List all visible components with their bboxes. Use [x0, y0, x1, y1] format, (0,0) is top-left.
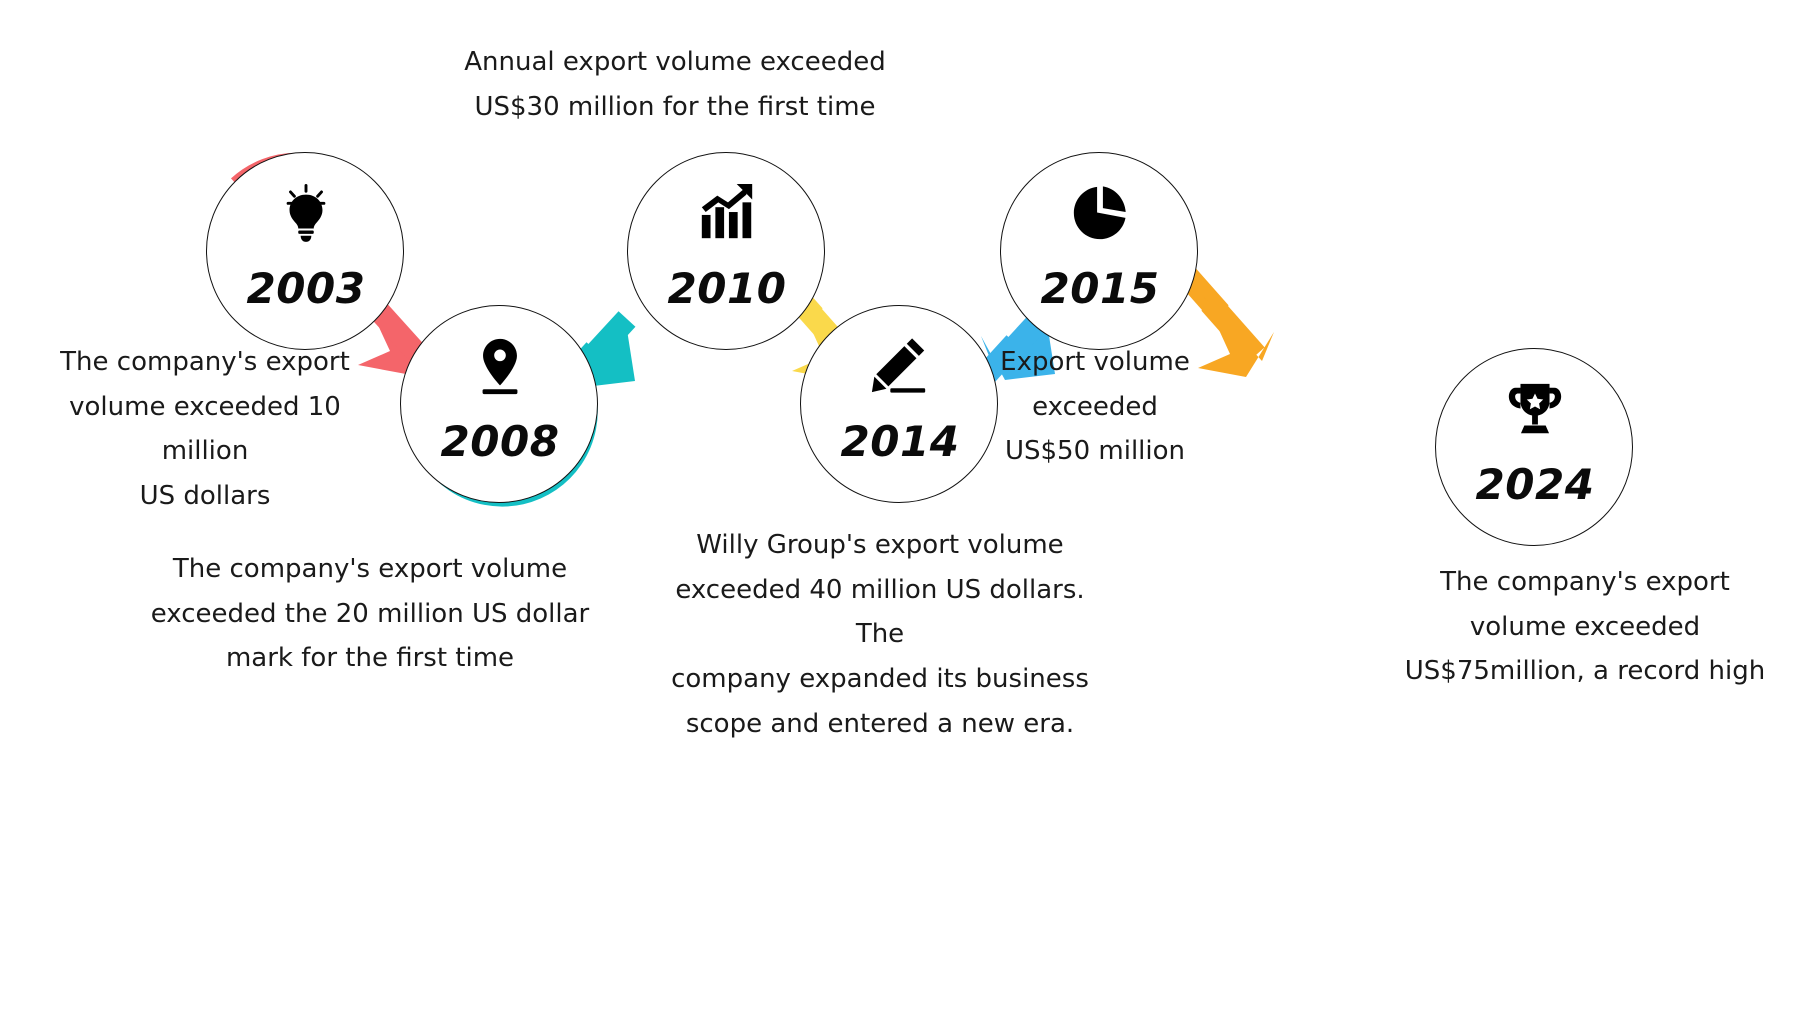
year-label-2003: 2003	[206, 264, 406, 313]
caption-2014-line-1: Willy Group's export volume	[650, 523, 1110, 568]
caption-2003: The company's export volume exceeded 10 …	[30, 340, 380, 519]
caption-2014-line-3: company expanded its business	[650, 657, 1110, 702]
caption-2014-line-2: exceeded 40 million US dollars. The	[650, 568, 1110, 657]
trophy-icon	[1435, 378, 1635, 440]
year-label-2015: 2015	[1000, 264, 1200, 313]
timeline-infographic: 2003 The company's export volume exceede…	[0, 0, 1820, 1024]
pie-chart-icon	[1000, 182, 1200, 244]
pencil-icon	[800, 335, 1000, 397]
year-label-2024: 2024	[1435, 460, 1635, 509]
caption-2003-line-2: volume exceeded 10 million	[30, 385, 380, 474]
map-pin-icon	[400, 335, 600, 397]
caption-2024-line-1: The company's export	[1390, 560, 1780, 605]
caption-2015-line-3: US$50 million	[985, 429, 1205, 474]
caption-2003-line-3: US dollars	[30, 474, 380, 519]
year-label-2014: 2014	[800, 417, 1000, 466]
bar-chart-growth-icon	[627, 182, 827, 244]
caption-2014: Willy Group's export volume exceeded 40 …	[650, 523, 1110, 747]
caption-2014-line-4: scope and entered a new era.	[650, 702, 1110, 747]
caption-2008-line-2: exceeded the 20 million US dollar	[140, 592, 600, 637]
lightbulb-icon	[206, 182, 406, 244]
caption-2015-line-1: Export volume	[985, 340, 1205, 385]
caption-2003-line-1: The company's export	[30, 340, 380, 385]
caption-2015: Export volume exceeded US$50 million	[985, 340, 1205, 474]
caption-2015-line-2: exceeded	[985, 385, 1205, 430]
caption-2008: The company's export volume exceeded the…	[140, 547, 600, 681]
caption-2008-line-1: The company's export volume	[140, 547, 600, 592]
caption-2010-line-1: Annual export volume exceeded	[440, 40, 910, 85]
caption-2010: Annual export volume exceeded US$30 mill…	[440, 40, 910, 129]
caption-2010-line-2: US$30 million for the first time	[440, 85, 910, 130]
caption-2008-line-3: mark for the first time	[140, 636, 600, 681]
milestone-node-2003[interactable]: 2003	[206, 152, 406, 352]
milestone-node-2015[interactable]: 2015	[1000, 152, 1200, 352]
milestone-node-2008[interactable]: 2008	[400, 305, 600, 505]
caption-2024-line-3: US$75million, a record high	[1390, 649, 1780, 694]
caption-2024-line-2: volume exceeded	[1390, 605, 1780, 650]
milestone-node-2024[interactable]: 2024	[1435, 348, 1635, 548]
milestone-node-2014[interactable]: 2014	[800, 305, 1000, 505]
caption-2024: The company's export volume exceeded US$…	[1390, 560, 1780, 694]
year-label-2008: 2008	[400, 417, 600, 466]
